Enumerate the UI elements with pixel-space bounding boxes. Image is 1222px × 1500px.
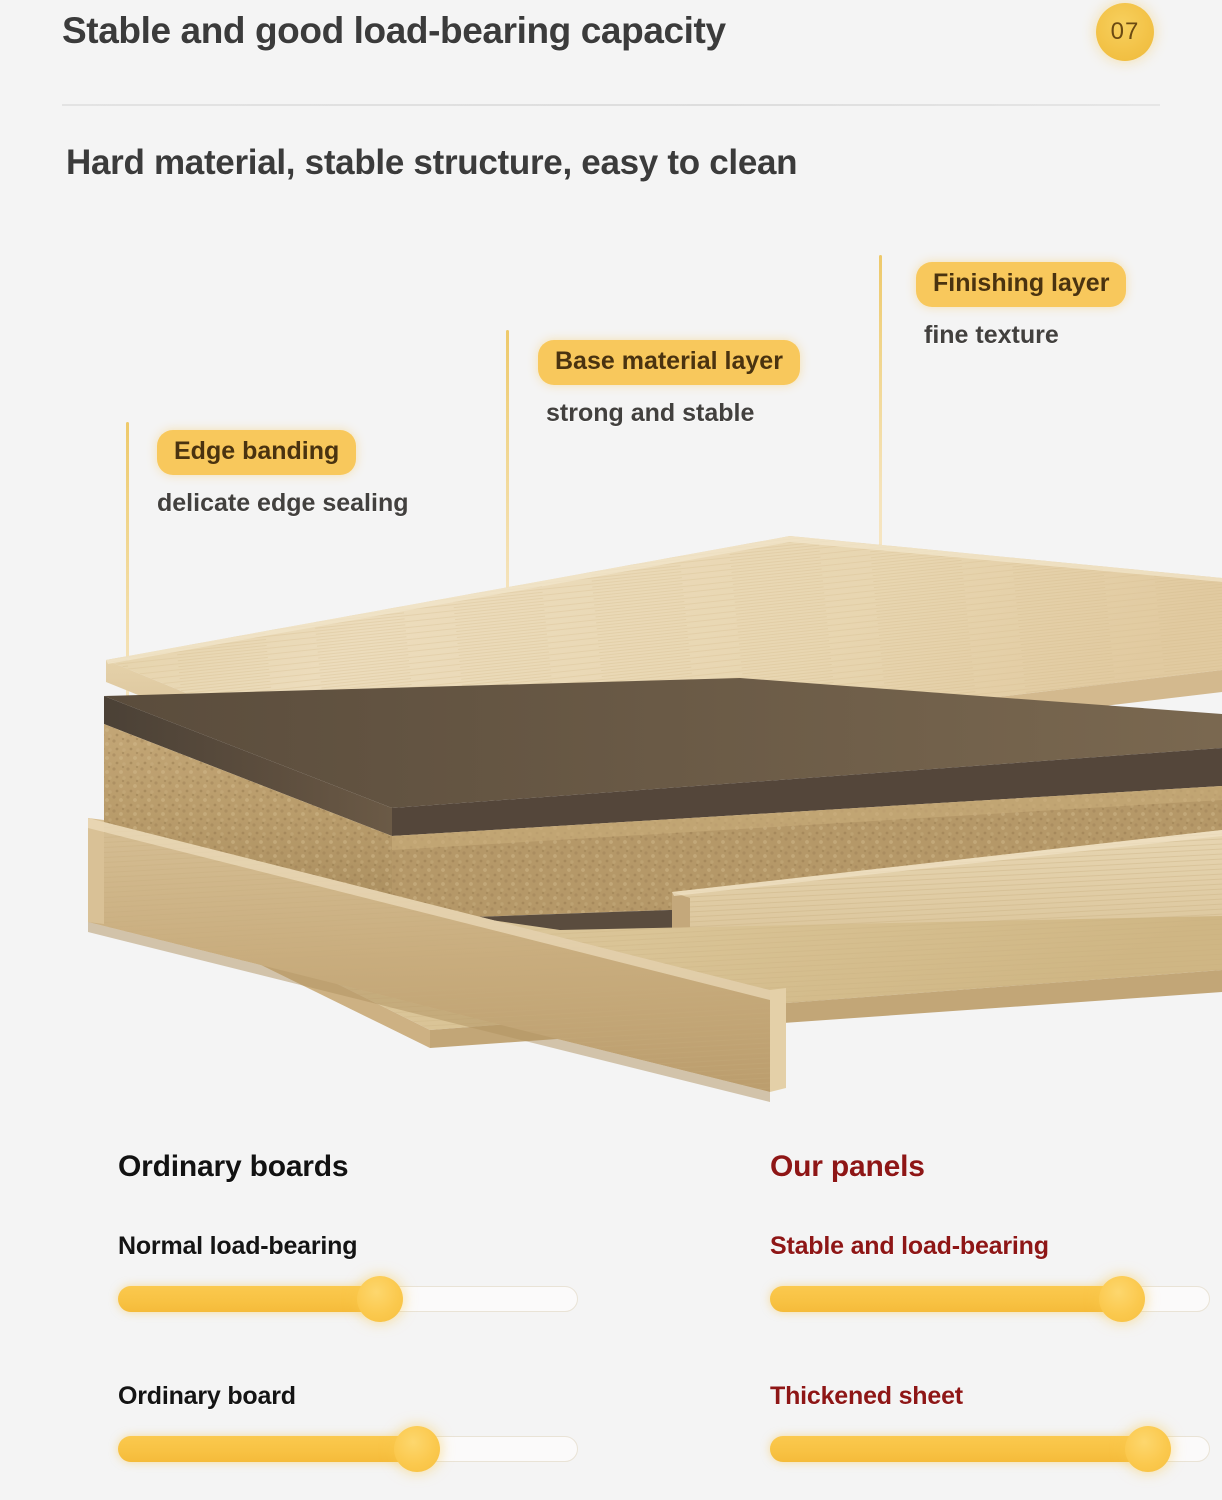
- callout-base-material-layer: Base material layer strong and stable: [538, 340, 800, 428]
- comparison-column-ordinary: Ordinary boards Normal load-bearing Ordi…: [118, 1150, 578, 1184]
- metric-label-thickened-sheet: Thickened sheet: [770, 1382, 1210, 1411]
- slider-thickened-sheet[interactable]: [770, 1428, 1210, 1468]
- metric-normal-load-bearing: Normal load-bearing: [118, 1232, 578, 1318]
- panel-diagram-svg: [0, 500, 1222, 1120]
- comparison-column-our-panels: Our panels Stable and load-bearing Thick…: [770, 1150, 1210, 1184]
- column-title-ordinary: Ordinary boards: [118, 1150, 578, 1184]
- page-number-label: 07: [1096, 3, 1154, 61]
- comparison-section: Ordinary boards Normal load-bearing Ordi…: [0, 1150, 1222, 1500]
- metric-ordinary-board: Ordinary board: [118, 1382, 578, 1468]
- callout-description-finishing-layer: fine texture: [924, 321, 1126, 350]
- slider-knob[interactable]: [1125, 1426, 1171, 1472]
- page-header: Stable and good load-bearing capacity 07: [0, 0, 1222, 100]
- section-subtitle: Hard material, stable structure, easy to…: [66, 143, 797, 183]
- column-title-our-panels: Our panels: [770, 1150, 1210, 1184]
- slider-knob[interactable]: [357, 1276, 403, 1322]
- slider-normal-load-bearing[interactable]: [118, 1278, 578, 1318]
- callout-label-finishing-layer: Finishing layer: [916, 262, 1126, 307]
- page-number-badge: 07: [1096, 3, 1154, 61]
- metric-label-stable-load-bearing: Stable and load-bearing: [770, 1232, 1210, 1261]
- exploded-panel-illustration: [0, 500, 1222, 1120]
- slider-knob[interactable]: [1099, 1276, 1145, 1322]
- callout-finishing-layer: Finishing layer fine texture: [916, 262, 1126, 350]
- callout-description-base-material-layer: strong and stable: [546, 399, 800, 428]
- slider-fill: [770, 1286, 1122, 1312]
- slider-ordinary-board[interactable]: [118, 1428, 578, 1468]
- metric-stable-load-bearing: Stable and load-bearing: [770, 1232, 1210, 1318]
- slider-fill: [770, 1436, 1148, 1462]
- callout-label-base-material-layer: Base material layer: [538, 340, 800, 385]
- metric-label-normal-load-bearing: Normal load-bearing: [118, 1232, 578, 1261]
- metric-label-ordinary-board: Ordinary board: [118, 1382, 578, 1411]
- slider-stable-load-bearing[interactable]: [770, 1278, 1210, 1318]
- header-divider: [62, 104, 1160, 106]
- page-title: Stable and good load-bearing capacity: [62, 10, 726, 52]
- slider-knob[interactable]: [394, 1426, 440, 1472]
- slider-fill: [118, 1286, 380, 1312]
- metric-thickened-sheet: Thickened sheet: [770, 1382, 1210, 1468]
- callout-label-edge-banding: Edge banding: [157, 430, 356, 475]
- slider-fill: [118, 1436, 417, 1462]
